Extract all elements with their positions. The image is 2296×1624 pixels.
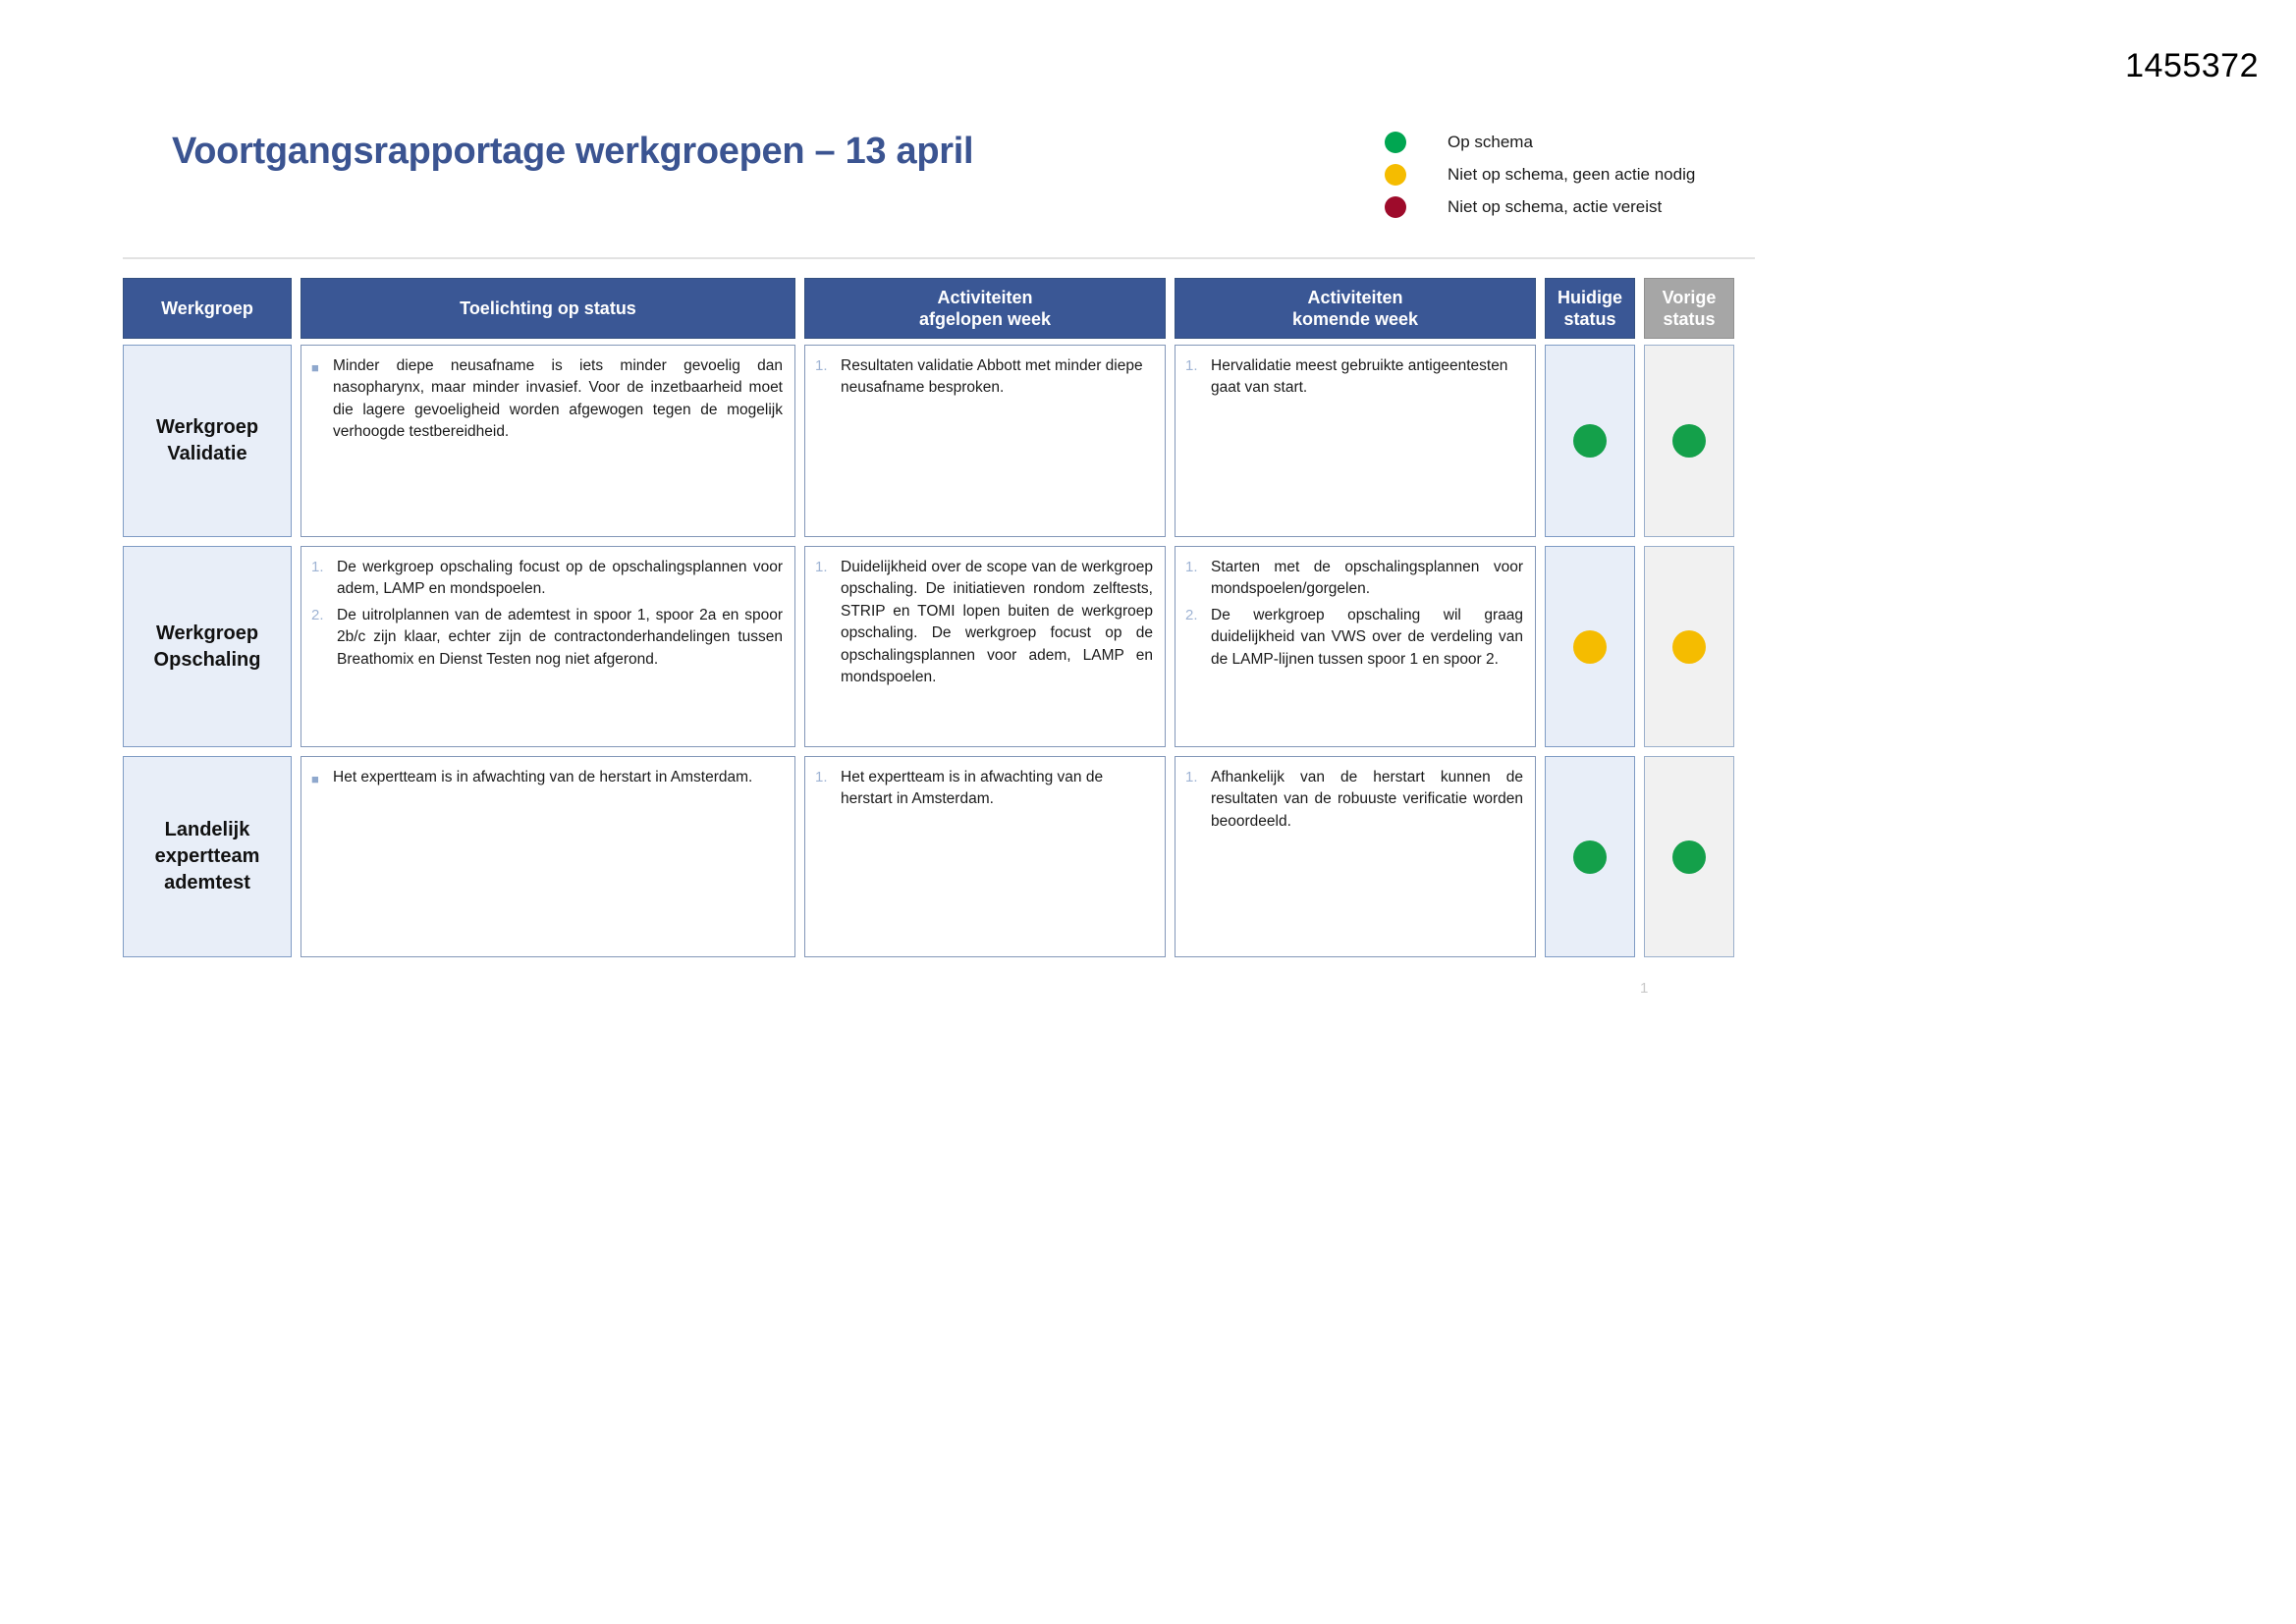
afgelopen-week-cell: 1.Duidelijkheid over de scope van de wer…	[804, 546, 1166, 747]
column-header-afgelopen-line1: Activiteiten	[919, 287, 1051, 309]
column-gap	[1166, 756, 1175, 957]
legend-label-red: Niet op schema, actie vereist	[1448, 197, 1662, 217]
column-header-werkgroep: Werkgroep	[123, 278, 292, 339]
workgroup-name-cell: Werkgroep Validatie	[123, 345, 292, 537]
list-item-text: Afhankelijk van de herstart kunnen de re…	[1211, 767, 1523, 833]
list-number: 2.	[1185, 605, 1211, 671]
list-number: 1.	[815, 355, 841, 400]
list-item: 1.Hervalidatie meest gebruikte antigeent…	[1185, 355, 1523, 400]
yellow-status-dot	[1573, 630, 1607, 664]
list-item-text: Hervalidatie meest gebruikte antigeentes…	[1211, 355, 1523, 400]
workgroup-label: Werkgroep Validatie	[124, 414, 291, 467]
green-status-dot	[1672, 424, 1706, 458]
afgelopen-week-cell: 1.Resultaten validatie Abbott met minder…	[804, 345, 1166, 537]
workgroup-name-cell: Landelijk expertteam ademtest	[123, 756, 292, 957]
komende-week-cell: 1.Starten met de opschalingsplannen voor…	[1175, 546, 1536, 747]
status-legend: Op schema Niet op schema, geen actie nod…	[1385, 126, 1709, 223]
column-header-huidige-line1: Huidige	[1558, 287, 1622, 309]
column-header-komende-line2: komende week	[1292, 308, 1418, 331]
page-number: 1	[1640, 980, 1648, 997]
toelichting-cell: ■Het expertteam is in afwachting van de …	[301, 756, 795, 957]
vorige-status-cell	[1644, 345, 1734, 537]
column-header-vorige-line1: Vorige	[1663, 287, 1717, 309]
huidige-status-cell	[1545, 345, 1635, 537]
column-header-vorige-status: Vorige status	[1644, 278, 1734, 339]
table-row: Werkgroep Validatie■Minder diepe neusafn…	[123, 345, 1755, 537]
column-header-komende-week: Activiteiten komende week	[1175, 278, 1536, 339]
list-number: 1.	[1185, 767, 1211, 833]
column-gap	[1166, 345, 1175, 537]
list-item-text: Duidelijkheid over de scope van de werkg…	[841, 557, 1153, 689]
column-gap	[795, 546, 804, 747]
column-gap	[1635, 756, 1644, 957]
legend-label-green: Op schema	[1448, 133, 1533, 152]
list-item: ■Minder diepe neusafname is iets minder …	[311, 355, 783, 444]
list-number: 1.	[1185, 557, 1211, 601]
list-item-text: Starten met de opschalingsplannen voor m…	[1211, 557, 1523, 601]
list-item-text: Het expertteam is in afwachting van de h…	[841, 767, 1153, 811]
list-number: 2.	[311, 605, 337, 671]
column-gap	[1166, 546, 1175, 747]
komende-week-cell: 1.Afhankelijk van de herstart kunnen de …	[1175, 756, 1536, 957]
table-body: Werkgroep Validatie■Minder diepe neusafn…	[123, 345, 1755, 957]
yellow-status-dot	[1672, 630, 1706, 664]
column-header-afgelopen-line2: afgelopen week	[919, 308, 1051, 331]
column-gap	[795, 756, 804, 957]
column-header-huidige-line2: status	[1558, 308, 1622, 331]
column-gap	[292, 278, 301, 339]
column-gap	[1536, 278, 1545, 339]
square-bullet-icon: ■	[311, 355, 333, 444]
huidige-status-cell	[1545, 756, 1635, 957]
legend-item-green: Op schema	[1385, 126, 1709, 158]
column-gap	[1166, 278, 1175, 339]
green-status-dot	[1573, 840, 1607, 874]
column-gap	[1635, 278, 1644, 339]
column-gap	[1536, 756, 1545, 957]
list-number: 1.	[815, 557, 841, 689]
list-item: 1.Afhankelijk van de herstart kunnen de …	[1185, 767, 1523, 833]
page-title: Voortgangsrapportage werkgroepen – 13 ap…	[172, 131, 973, 173]
vorige-status-cell	[1644, 756, 1734, 957]
column-header-vorige-line2: status	[1663, 308, 1717, 331]
table-header-row: Werkgroep Toelichting op status Activite…	[123, 278, 1755, 339]
list-item-text: De uitrolplannen van de ademtest in spoo…	[337, 605, 783, 671]
komende-week-cell: 1.Hervalidatie meest gebruikte antigeent…	[1175, 345, 1536, 537]
column-gap	[1536, 546, 1545, 747]
list-item: 2.De uitrolplannen van de ademtest in sp…	[311, 605, 783, 671]
green-status-dot	[1573, 424, 1607, 458]
legend-label-yellow: Niet op schema, geen actie nodig	[1448, 165, 1695, 185]
column-gap	[1635, 546, 1644, 747]
list-item-text: Minder diepe neusafname is iets minder g…	[333, 355, 783, 444]
green-status-dot	[1672, 840, 1706, 874]
column-header-afgelopen-week: Activiteiten afgelopen week	[804, 278, 1166, 339]
square-bullet-icon: ■	[311, 767, 333, 789]
workgroup-name-cell: Werkgroep Opschaling	[123, 546, 292, 747]
list-item: 1.Resultaten validatie Abbott met minder…	[815, 355, 1153, 400]
table-row: Werkgroep Opschaling1.De werkgroep opsch…	[123, 546, 1755, 747]
list-item: 1.Duidelijkheid over de scope van de wer…	[815, 557, 1153, 689]
green-status-dot	[1385, 132, 1406, 153]
document-number: 1455372	[2125, 47, 2259, 85]
list-item: 1.Het expertteam is in afwachting van de…	[815, 767, 1153, 811]
list-item-text: Resultaten validatie Abbott met minder d…	[841, 355, 1153, 400]
slide-canvas: Voortgangsrapportage werkgroepen – 13 ap…	[123, 106, 1755, 1034]
workgroup-label: Landelijk expertteam ademtest	[124, 817, 291, 896]
column-gap	[795, 278, 804, 339]
afgelopen-week-cell: 1.Het expertteam is in afwachting van de…	[804, 756, 1166, 957]
legend-item-red: Niet op schema, actie vereist	[1385, 190, 1709, 223]
list-item-text: De werkgroep opschaling wil graag duidel…	[1211, 605, 1523, 671]
workgroup-label: Werkgroep Opschaling	[124, 621, 291, 674]
list-item: 2.De werkgroep opschaling wil graag duid…	[1185, 605, 1523, 671]
column-header-toelichting: Toelichting op status	[301, 278, 795, 339]
red-status-dot	[1385, 196, 1406, 218]
vorige-status-cell	[1644, 546, 1734, 747]
status-table: Werkgroep Toelichting op status Activite…	[123, 278, 1755, 966]
list-item-text: Het expertteam is in afwachting van de h…	[333, 767, 752, 789]
title-divider	[123, 257, 1755, 259]
column-header-huidige-status: Huidige status	[1545, 278, 1635, 339]
column-gap	[795, 345, 804, 537]
yellow-status-dot	[1385, 164, 1406, 186]
column-gap	[292, 756, 301, 957]
toelichting-cell: ■Minder diepe neusafname is iets minder …	[301, 345, 795, 537]
list-number: 1.	[1185, 355, 1211, 400]
list-item: ■Het expertteam is in afwachting van de …	[311, 767, 783, 789]
list-number: 1.	[815, 767, 841, 811]
table-row: Landelijk expertteam ademtest■Het expert…	[123, 756, 1755, 957]
toelichting-cell: 1.De werkgroep opschaling focust op de o…	[301, 546, 795, 747]
column-gap	[292, 546, 301, 747]
list-item: 1.Starten met de opschalingsplannen voor…	[1185, 557, 1523, 601]
column-gap	[1536, 345, 1545, 537]
list-item-text: De werkgroep opschaling focust op de ops…	[337, 557, 783, 601]
legend-item-yellow: Niet op schema, geen actie nodig	[1385, 158, 1709, 190]
list-item: 1.De werkgroep opschaling focust op de o…	[311, 557, 783, 601]
list-number: 1.	[311, 557, 337, 601]
column-gap	[292, 345, 301, 537]
column-gap	[1635, 345, 1644, 537]
column-header-komende-line1: Activiteiten	[1292, 287, 1418, 309]
huidige-status-cell	[1545, 546, 1635, 747]
